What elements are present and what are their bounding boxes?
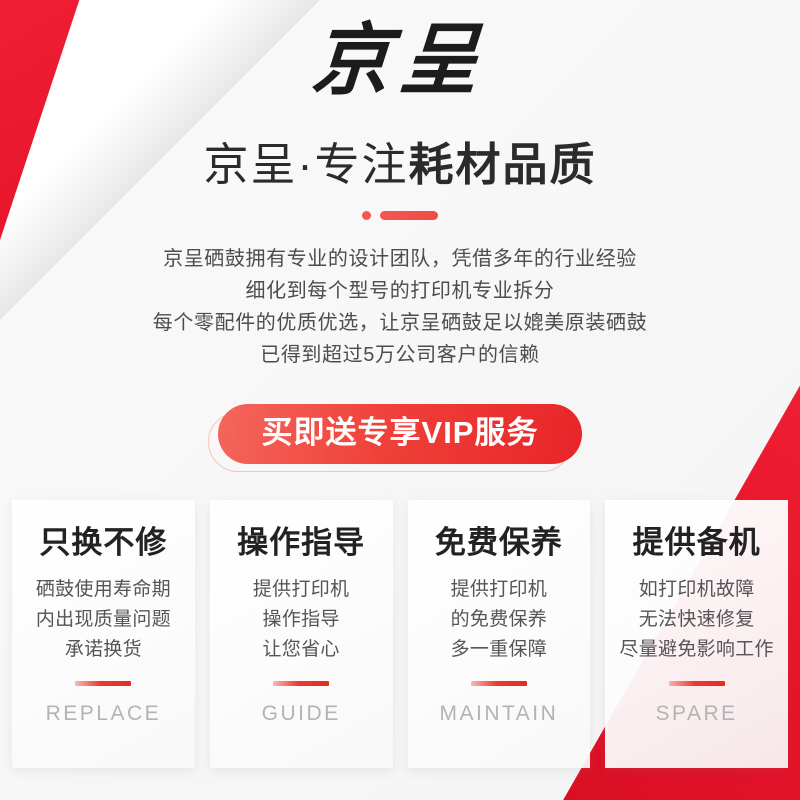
body-line: 已得到超过5万公司客户的信赖 bbox=[0, 339, 800, 371]
vip-badge-label[interactable]: 买即送专享VIP服务 bbox=[218, 404, 583, 464]
card-title: 免费保养 bbox=[435, 526, 563, 560]
body-copy: 京呈硒鼓拥有专业的设计团队，凭借多年的行业经验 细化到每个型号的打印机专业拆分 … bbox=[0, 243, 800, 371]
feature-card-spare[interactable]: 提供备机 如打印机故障 无法快速修复 尽量避免影响工作 SPARE bbox=[605, 500, 788, 768]
card-description: 提供打印机 的免费保养 多一重保障 bbox=[451, 575, 548, 665]
card-description: 硒鼓使用寿命期 内出现质量问题 承诺换货 bbox=[36, 575, 171, 665]
card-divider bbox=[273, 681, 329, 686]
feature-card-list: 只换不修 硒鼓使用寿命期 内出现质量问题 承诺换货 REPLACE 操作指导 提… bbox=[12, 500, 788, 768]
card-description: 提供打印机 操作指导 让您省心 bbox=[253, 575, 350, 665]
vip-badge-wrap: 买即送专享VIP服务 bbox=[0, 404, 800, 464]
card-line: 尽量避免影响工作 bbox=[619, 635, 773, 665]
headline-light-part: 京呈·专注 bbox=[203, 139, 408, 190]
card-line: 如打印机故障 bbox=[619, 575, 773, 605]
headline-heavy-part: 耗材品质 bbox=[408, 139, 596, 190]
card-line: 的免费保养 bbox=[451, 605, 548, 635]
body-line: 细化到每个型号的打印机专业拆分 bbox=[0, 275, 800, 307]
card-divider bbox=[75, 681, 131, 686]
vip-badge[interactable]: 买即送专享VIP服务 bbox=[218, 404, 583, 464]
card-title: 提供备机 bbox=[633, 526, 761, 560]
card-line: 提供打印机 bbox=[253, 575, 350, 605]
decoration-bar-icon bbox=[380, 211, 438, 220]
promo-banner: 京呈® 京呈·专注耗材品质 京呈硒鼓拥有专业的设计团队，凭借多年的行业经验 细化… bbox=[0, 0, 800, 800]
headline: 京呈·专注耗材品质 bbox=[0, 140, 800, 190]
card-line: 让您省心 bbox=[253, 635, 350, 665]
card-divider bbox=[669, 681, 725, 686]
card-english-label: MAINTAIN bbox=[439, 702, 558, 726]
brand-logo: 京呈® bbox=[0, 22, 800, 100]
card-line: 无法快速修复 bbox=[619, 605, 773, 635]
body-line: 京呈硒鼓拥有专业的设计团队，凭借多年的行业经验 bbox=[0, 243, 800, 275]
headline-decoration bbox=[0, 211, 800, 220]
brand-logo-text: 京呈 bbox=[309, 22, 490, 100]
card-english-label: GUIDE bbox=[262, 702, 341, 726]
card-line: 承诺换货 bbox=[36, 635, 171, 665]
card-line: 多一重保障 bbox=[451, 635, 548, 665]
card-line: 内出现质量问题 bbox=[36, 605, 171, 635]
card-title: 只换不修 bbox=[39, 526, 167, 560]
body-line: 每个零配件的优质优选，让京呈硒鼓足以媲美原装硒鼓 bbox=[0, 307, 800, 339]
card-english-label: SPARE bbox=[656, 702, 738, 726]
feature-card-maintain[interactable]: 免费保养 提供打印机 的免费保养 多一重保障 MAINTAIN bbox=[408, 500, 591, 768]
card-line: 提供打印机 bbox=[451, 575, 548, 605]
card-line: 操作指导 bbox=[253, 605, 350, 635]
feature-card-guide[interactable]: 操作指导 提供打印机 操作指导 让您省心 GUIDE bbox=[210, 500, 393, 768]
card-english-label: REPLACE bbox=[46, 702, 162, 726]
card-description: 如打印机故障 无法快速修复 尽量避免影响工作 bbox=[619, 575, 773, 665]
feature-card-replace[interactable]: 只换不修 硒鼓使用寿命期 内出现质量问题 承诺换货 REPLACE bbox=[12, 500, 195, 768]
card-title: 操作指导 bbox=[237, 526, 365, 560]
decoration-dot-icon bbox=[362, 211, 371, 220]
card-line: 硒鼓使用寿命期 bbox=[36, 575, 171, 605]
card-divider bbox=[471, 681, 527, 686]
